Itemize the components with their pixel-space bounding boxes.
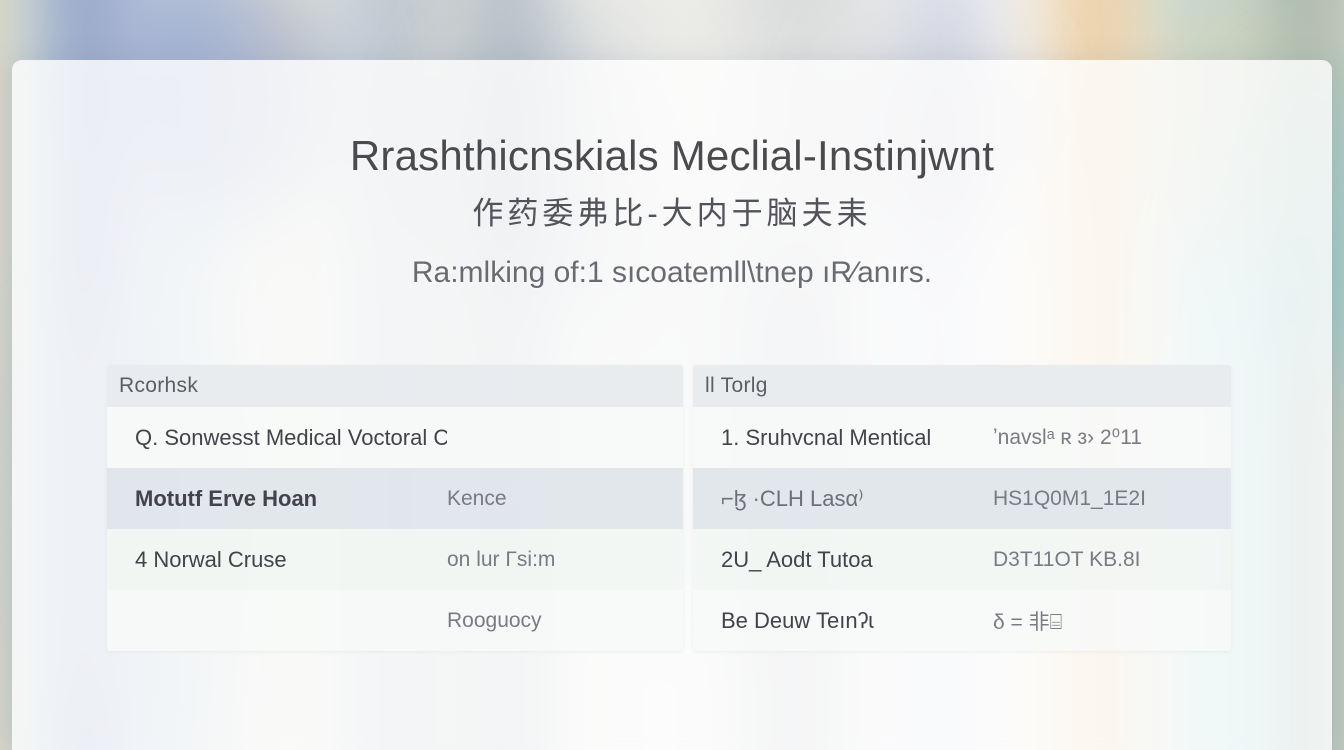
row-primary-text: 2U_ Aodt Tutoa bbox=[693, 547, 993, 573]
table-row[interactable]: Be Deuw Teınʔɩ δ = 非⌸ bbox=[693, 590, 1231, 651]
right-panel-header-label: ll Torlg bbox=[705, 374, 768, 398]
row-secondary-text: δ = 非⌸ bbox=[993, 606, 1231, 636]
left-panel: Rcorhsk Q. Sonwesst Medical Voctoral Cod… bbox=[107, 365, 683, 651]
row-secondary-text: Kence bbox=[447, 487, 683, 511]
left-panel-header: Rcorhsk bbox=[107, 365, 683, 407]
row-secondary-text: on lur Γsi:m bbox=[447, 548, 683, 572]
table-row[interactable]: Rooguocy bbox=[107, 590, 683, 651]
content-card: Rrashthicnskials Meclial-Instinjwnt 作药委弗… bbox=[12, 60, 1332, 750]
table-row[interactable]: 2U_ Aodt Tutoa D3T11OT KB.8I bbox=[693, 529, 1231, 590]
row-primary-text: Q. Sonwesst Medical Voctoral Codlenug bbox=[107, 425, 447, 451]
table-row[interactable]: 1. Sruhvcnal Mentical ʼnavslᵃ ʀ ɜ› 2⁰11 bbox=[693, 407, 1231, 468]
table-row[interactable]: Q. Sonwesst Medical Voctoral Codlenug bbox=[107, 407, 683, 468]
row-secondary-text: Rooguocy bbox=[447, 609, 683, 633]
row-secondary-text: D3T11OT KB.8I bbox=[993, 548, 1231, 572]
right-panel: ll Torlg 1. Sruhvcnal Mentical ʼnavslᵃ ʀ… bbox=[693, 365, 1231, 651]
row-primary-text: Motutf Erve Hoan bbox=[107, 486, 447, 512]
row-primary-text: 1. Sruhvcnal Mentical bbox=[693, 425, 993, 451]
left-panel-header-label: Rcorhsk bbox=[119, 374, 198, 398]
page-subtitle-description: Ra:mlking of:1 sıcoatemll\tnep ıR⁄anırs. bbox=[12, 256, 1332, 290]
table-row[interactable]: ⌐ɮ ·CLH Lasα⁾ HS1Q0M1_1E2I bbox=[693, 468, 1231, 529]
page-subtitle-cjk: 作药委弗比-大内于脑夫耒 bbox=[12, 188, 1332, 233]
row-primary-text: 4 Norwal Cruse bbox=[107, 547, 447, 573]
table-row[interactable]: 4 Norwal Cruse on lur Γsi:m bbox=[107, 529, 683, 590]
row-secondary-text: ʼnavslᵃ ʀ ɜ› 2⁰11 bbox=[993, 425, 1231, 450]
row-secondary-text: HS1Q0M1_1E2I bbox=[993, 487, 1231, 511]
row-primary-text: ⌐ɮ ·CLH Lasα⁾ bbox=[693, 486, 993, 512]
page-title: Rrashthicnskials Meclial-Instinjwnt bbox=[12, 132, 1332, 180]
tables-container: Rcorhsk Q. Sonwesst Medical Voctoral Cod… bbox=[107, 365, 1231, 651]
row-primary-text: Be Deuw Teınʔɩ bbox=[693, 608, 993, 634]
table-row[interactable]: Motutf Erve Hoan Kence bbox=[107, 468, 683, 529]
right-panel-header: ll Torlg bbox=[693, 365, 1231, 407]
